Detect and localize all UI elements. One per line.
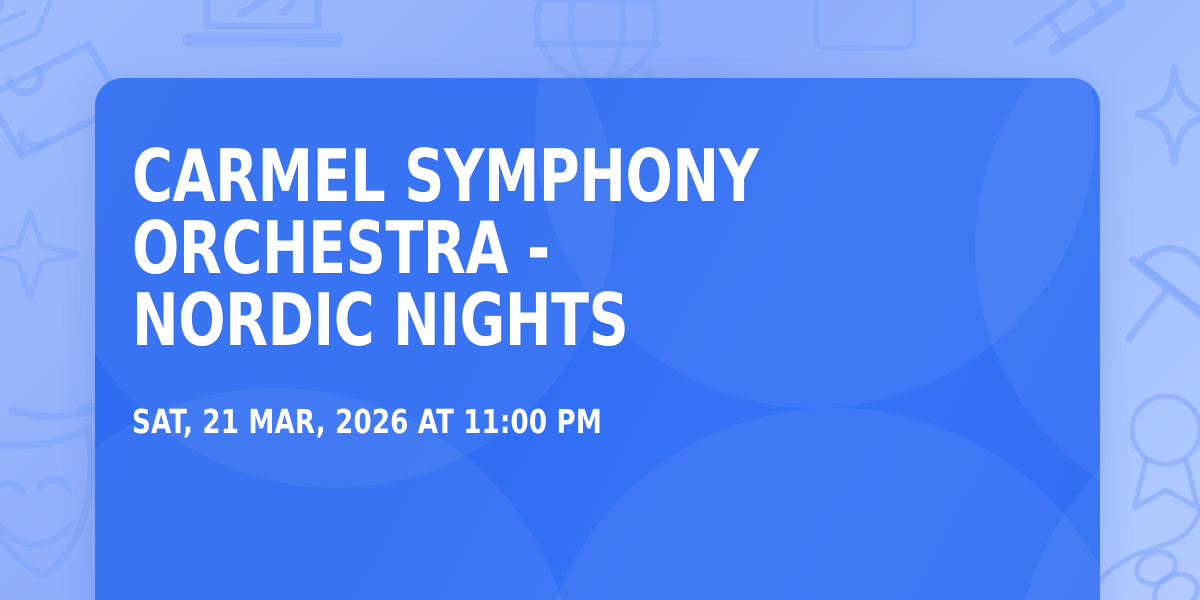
event-banner: Carmel Symphony Orchestra - Nordic Night… — [0, 0, 1200, 600]
microphone-icon — [1108, 228, 1200, 368]
sparkle-icon — [1100, 52, 1200, 172]
confetti-icon — [0, 0, 76, 74]
laptop-icon — [175, 0, 350, 68]
card-content: Carmel Symphony Orchestra - Nordic Night… — [132, 140, 1060, 440]
event-card[interactable]: Carmel Symphony Orchestra - Nordic Night… — [95, 78, 1100, 600]
award-ribbon-icon — [1122, 386, 1200, 516]
easel-icon — [990, 0, 1170, 70]
music-note-icon — [1090, 470, 1200, 600]
event-datetime: Sat, 21 Mar, 2026 at 11:00 PM — [132, 404, 949, 440]
calendar-icon — [800, 0, 930, 62]
star-icon — [0, 200, 80, 310]
event-title: Carmel Symphony Orchestra - Nordic Night… — [132, 140, 930, 356]
